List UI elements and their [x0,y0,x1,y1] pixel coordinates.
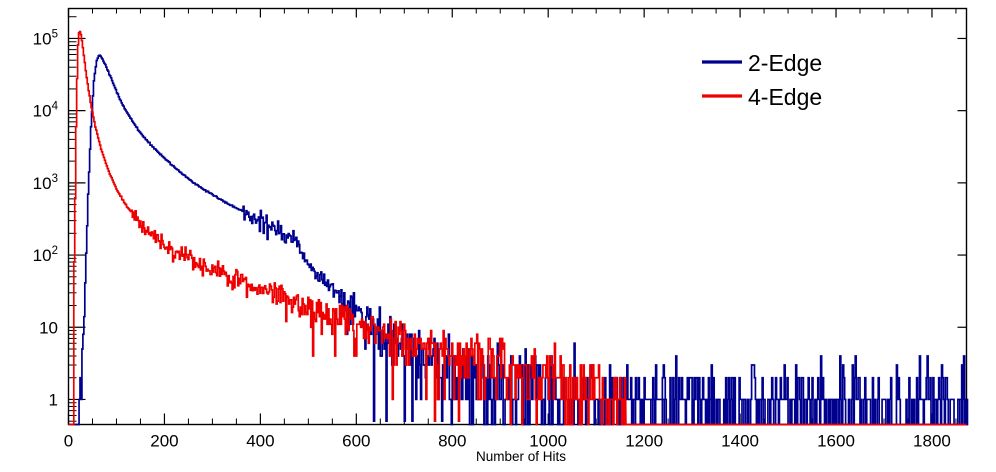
legend-label-4-edge: 4-Edge [748,84,822,110]
y-tick-label: 10 [39,318,58,337]
x-tick-label: 1400 [721,432,759,451]
x-tick-label: 600 [342,432,370,451]
x-tick-label: 1800 [913,432,951,451]
plot-canvas: 110102103104105 020040060080010001200140… [0,0,996,472]
chart-figure: 110102103104105 020040060080010001200140… [0,0,996,472]
x-tick-label: 200 [150,432,178,451]
x-tick-label: 0 [64,432,73,451]
x-tick-label: 1200 [625,432,663,451]
x-tick-label: 1000 [529,432,567,451]
x-tick-label: 800 [438,432,466,451]
figure-background [0,0,996,472]
y-tick-label: 1 [49,390,58,409]
x-axis-title: Number of Hits [476,449,566,464]
legend-label-2-edge: 2-Edge [748,50,822,76]
x-tick-label: 400 [246,432,274,451]
x-tick-label: 1600 [817,432,855,451]
